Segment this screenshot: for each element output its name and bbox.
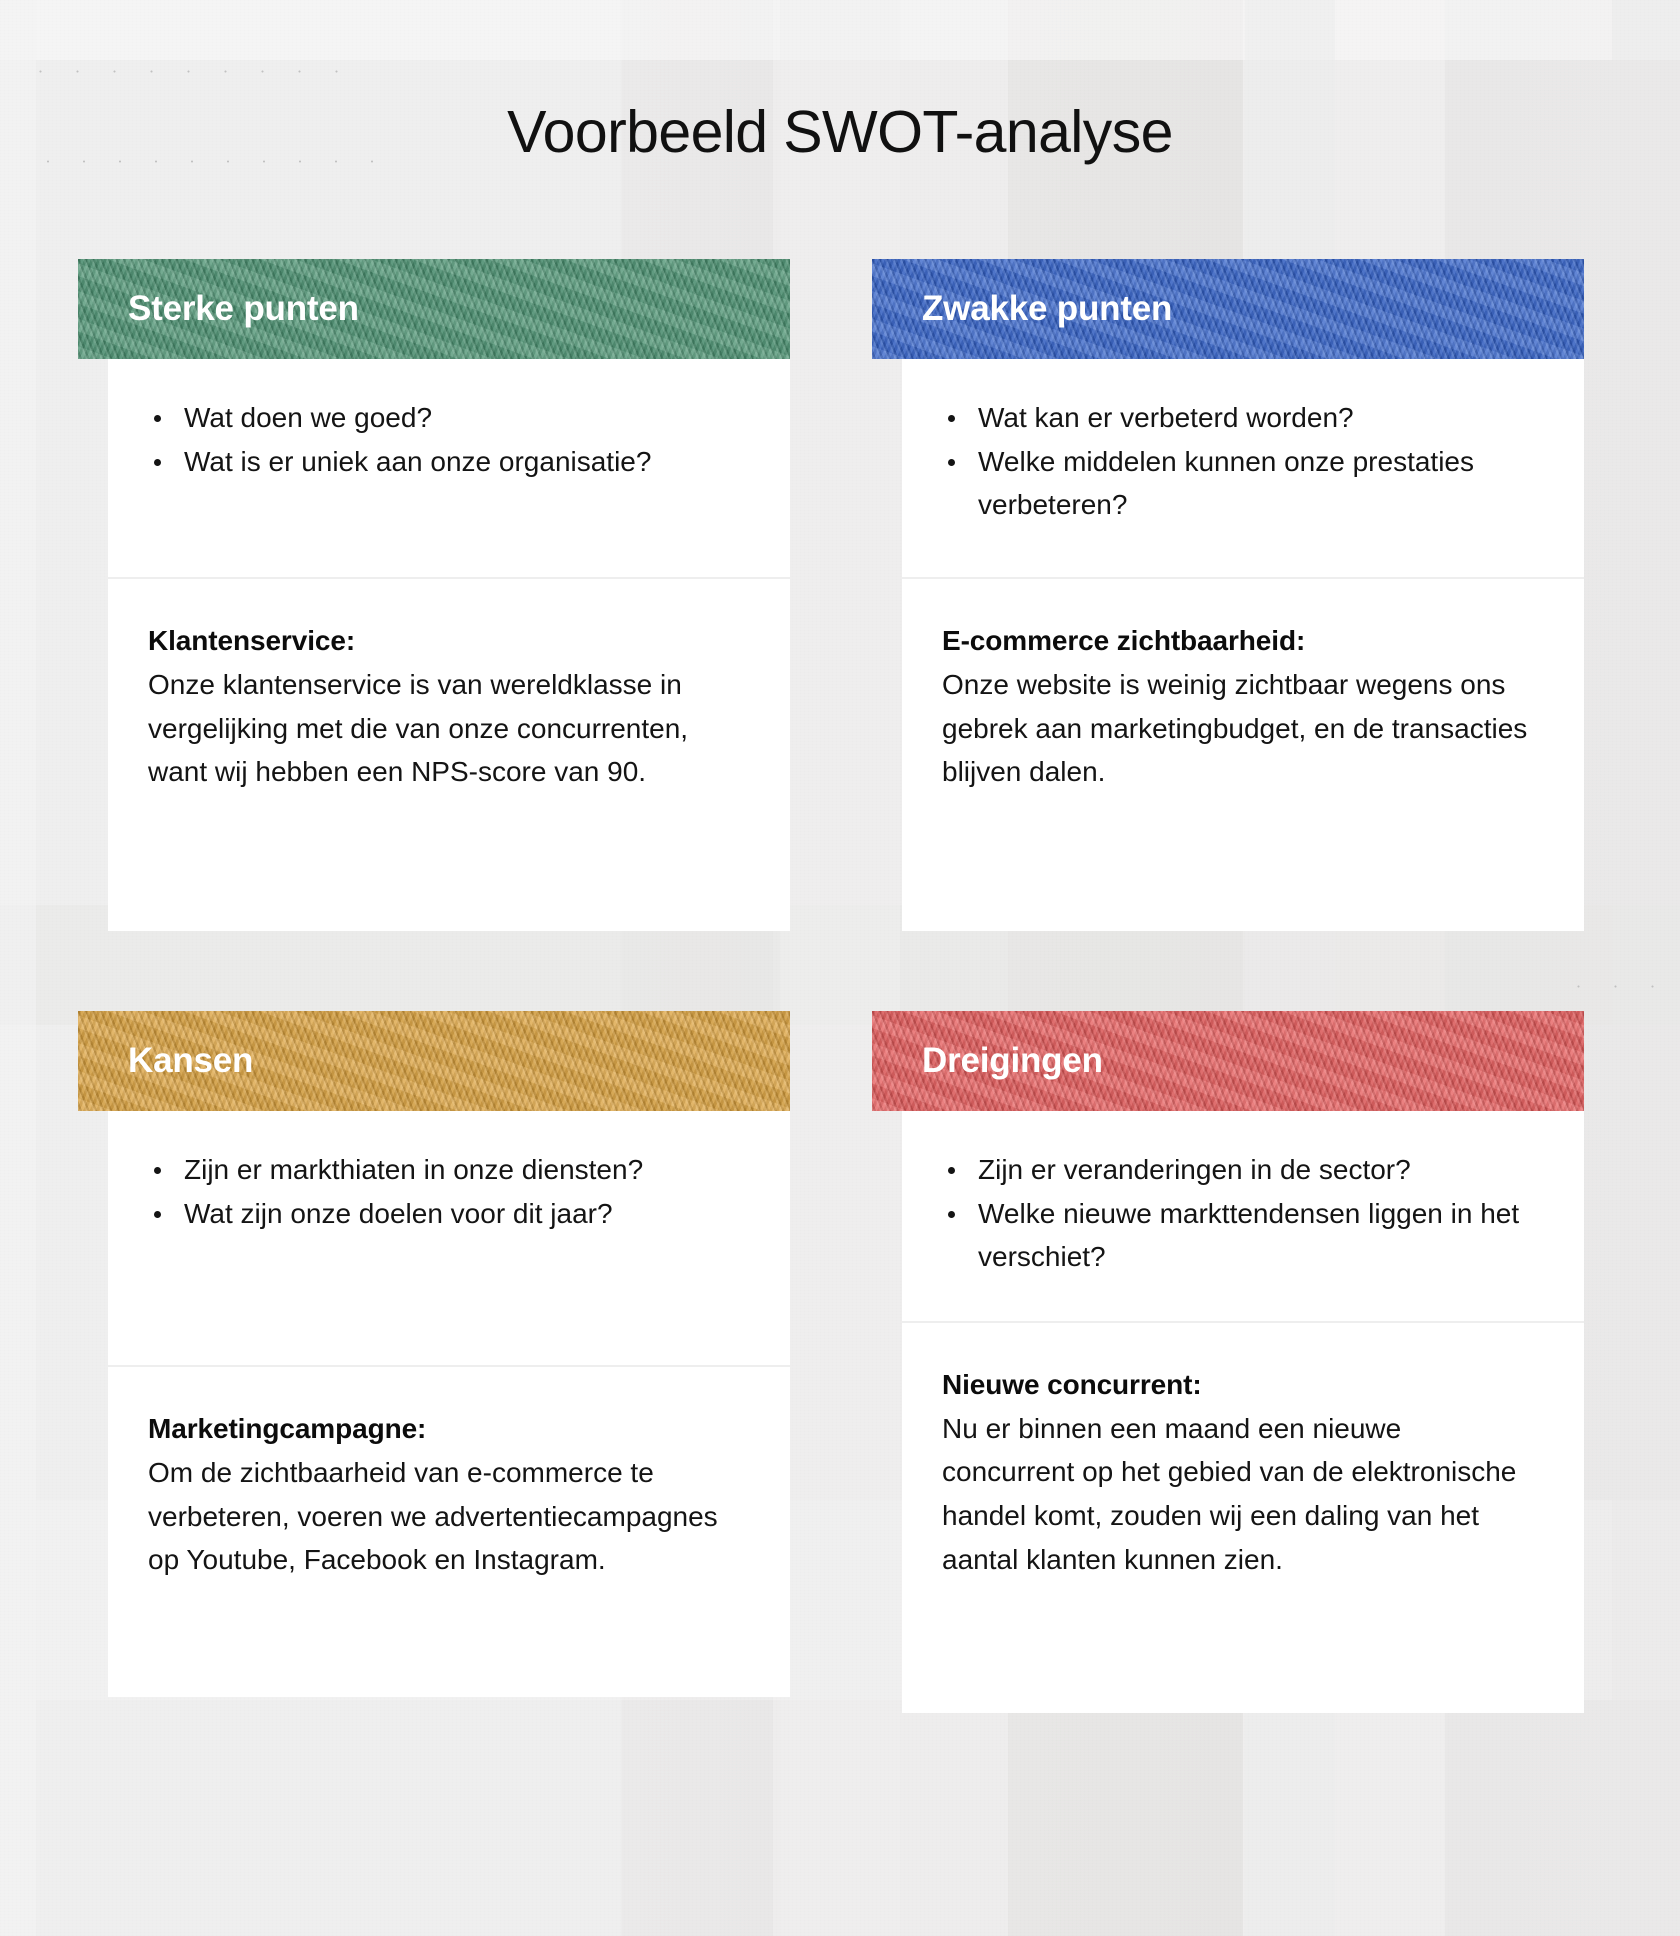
detail-text: Onze website is weinig zichtbaar wegens … (942, 663, 1538, 794)
quadrant-header-threats: Dreigingen (872, 1011, 1584, 1111)
swot-page: Voorbeeld SWOT-analyse Sterke punten Wat… (0, 0, 1680, 1936)
quadrant-body-opportunities: Zijn er markthiaten in onze diensten? Wa… (108, 1111, 790, 1697)
bullet-list-opportunities: Zijn er markthiaten in onze diensten? Wa… (148, 1149, 744, 1236)
quadrant-detail-opportunities: Marketingcampagne: Om de zichtbaarheid v… (108, 1367, 790, 1697)
quadrant-title-strengths: Sterke punten (128, 289, 359, 329)
quadrant-bullets-opportunities: Zijn er markthiaten in onze diensten? Wa… (108, 1111, 790, 1367)
quadrant-detail-threats: Nieuwe concurrent: Nu er binnen een maan… (902, 1323, 1584, 1713)
list-item: Zijn er veranderingen in de sector? (942, 1149, 1538, 1192)
quadrant-header-strengths: Sterke punten (78, 259, 790, 359)
quadrant-bullets-threats: Zijn er veranderingen in de sector? Welk… (902, 1111, 1584, 1323)
bullet-list-weaknesses: Wat kan er verbeterd worden? Welke midde… (942, 397, 1538, 527)
list-item: Wat kan er verbeterd worden? (942, 397, 1538, 440)
swot-grid: Sterke punten Wat doen we goed? Wat is e… (0, 259, 1680, 1713)
page-title: Voorbeeld SWOT-analyse (0, 0, 1680, 165)
quadrant-opportunities: Kansen Zijn er markthiaten in onze diens… (78, 1011, 790, 1713)
quadrant-header-weaknesses: Zwakke punten (872, 259, 1584, 359)
bullet-list-threats: Zijn er veranderingen in de sector? Welk… (942, 1149, 1538, 1279)
list-item: Zijn er markthiaten in onze diensten? (148, 1149, 744, 1192)
quadrant-detail-weaknesses: E-commerce zichtbaarheid: Onze website i… (902, 579, 1584, 931)
quadrant-bullets-weaknesses: Wat kan er verbeterd worden? Welke midde… (902, 359, 1584, 579)
quadrant-title-opportunities: Kansen (128, 1041, 253, 1081)
quadrant-body-weaknesses: Wat kan er verbeterd worden? Welke midde… (902, 359, 1584, 931)
quadrant-title-threats: Dreigingen (922, 1041, 1103, 1081)
quadrant-header-opportunities: Kansen (78, 1011, 790, 1111)
quadrant-detail-strengths: Klantenservice: Onze klantenservice is v… (108, 579, 790, 931)
quadrant-threats: Dreigingen Zijn er veranderingen in de s… (872, 1011, 1584, 1713)
detail-text: Om de zichtbaarheid van e-commerce te ve… (148, 1451, 744, 1582)
quadrant-strengths: Sterke punten Wat doen we goed? Wat is e… (78, 259, 790, 931)
list-item: Welke nieuwe markttendensen liggen in he… (942, 1193, 1538, 1278)
list-item: Wat doen we goed? (148, 397, 744, 440)
quadrant-title-weaknesses: Zwakke punten (922, 289, 1172, 329)
detail-heading: Marketingcampagne: (148, 1413, 744, 1445)
detail-heading: E-commerce zichtbaarheid: (942, 625, 1538, 657)
quadrant-body-threats: Zijn er veranderingen in de sector? Welk… (902, 1111, 1584, 1713)
list-item: Wat zijn onze doelen voor dit jaar? (148, 1193, 744, 1236)
list-item: Welke middelen kunnen onze prestaties ve… (942, 441, 1538, 526)
quadrant-body-strengths: Wat doen we goed? Wat is er uniek aan on… (108, 359, 790, 931)
list-item: Wat is er uniek aan onze organisatie? (148, 441, 744, 484)
bullet-list-strengths: Wat doen we goed? Wat is er uniek aan on… (148, 397, 744, 484)
detail-heading: Nieuwe concurrent: (942, 1369, 1538, 1401)
quadrant-bullets-strengths: Wat doen we goed? Wat is er uniek aan on… (108, 359, 790, 579)
detail-text: Nu er binnen een maand een nieuwe concur… (942, 1407, 1538, 1582)
detail-text: Onze klantenservice is van wereldklasse … (148, 663, 744, 794)
quadrant-weaknesses: Zwakke punten Wat kan er verbeterd worde… (872, 259, 1584, 931)
detail-heading: Klantenservice: (148, 625, 744, 657)
